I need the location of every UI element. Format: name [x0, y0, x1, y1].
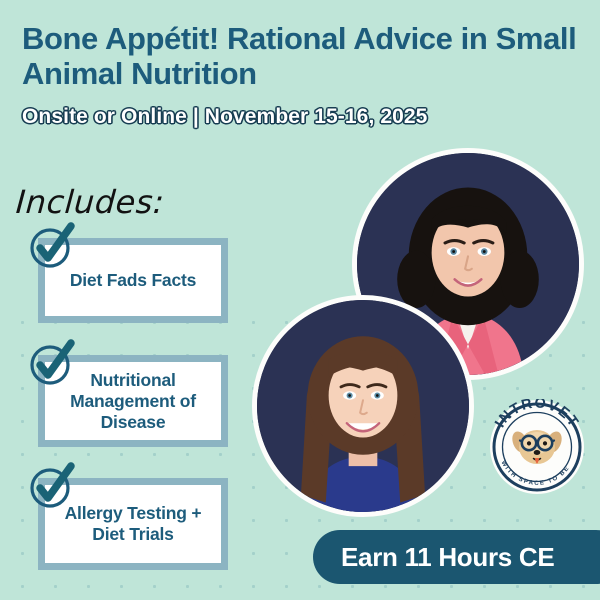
- introvet-logo[interactable]: INTROVET CE WITH SPACE TO BE YOU: [489, 399, 585, 495]
- check-circle-icon: [26, 220, 78, 272]
- speaker-photo-bottom: [252, 295, 474, 517]
- check-circle-icon: [26, 460, 78, 512]
- promo-poster: Bone Appétit! Rational Advice in Small A…: [0, 0, 600, 600]
- feature-label: Diet Fads Facts: [66, 264, 200, 297]
- page-title: Bone Appétit! Rational Advice in Small A…: [22, 22, 582, 91]
- earn-ce-hours-label: Earn 11 Hours CE: [313, 542, 554, 573]
- speaker-portrait-illustration: [257, 300, 469, 512]
- header-block: Bone Appétit! Rational Advice in Small A…: [22, 22, 582, 129]
- check-circle-icon: [26, 337, 78, 389]
- event-subtitle: Onsite or Online | November 15-16, 2025: [22, 105, 582, 129]
- includes-label: Includes:: [15, 183, 166, 221]
- earn-ce-hours-button[interactable]: Earn 11 Hours CE: [313, 530, 600, 584]
